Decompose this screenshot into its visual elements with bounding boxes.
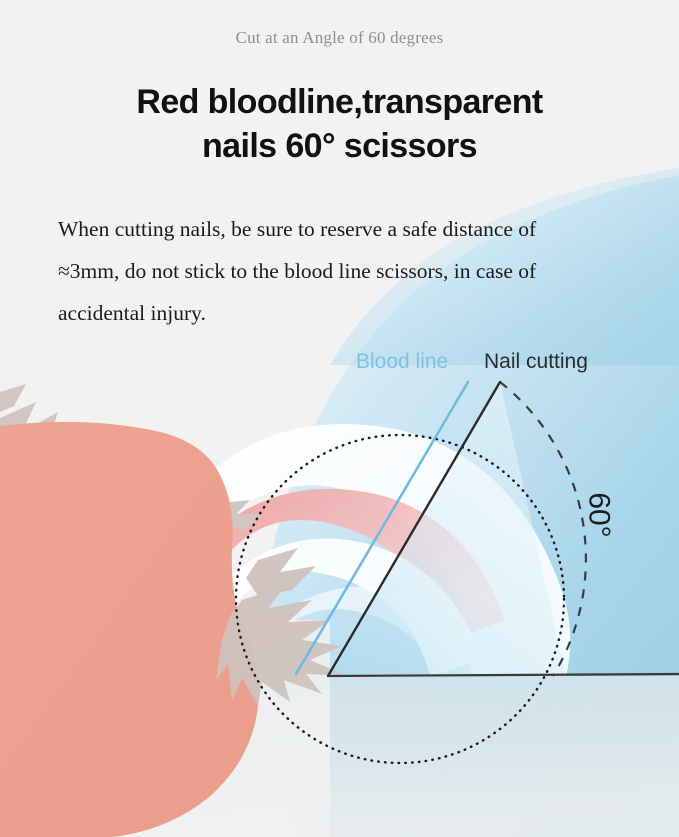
diagram-artwork [0, 0, 679, 837]
product-infographic-page: Cut at an Angle of 60 degrees Red bloodl… [0, 0, 679, 837]
paw-pad [0, 422, 259, 837]
